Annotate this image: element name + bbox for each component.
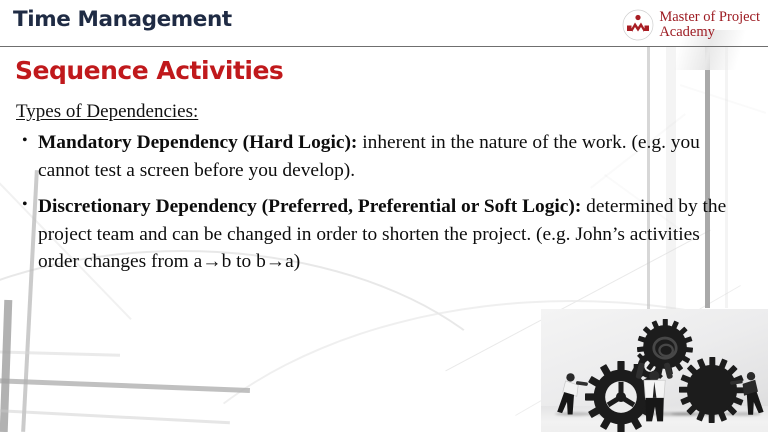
section-subheading: Types of Dependencies: [16, 101, 198, 123]
bullet-list: • Mandatory Dependency (Hard Logic): inh… [16, 129, 728, 285]
list-item-term: Mandatory Dependency (Hard Logic): [38, 132, 357, 153]
presentation-slide: Time Management Master of Project Academ… [0, 0, 768, 432]
person-pushing-left [553, 371, 595, 416]
slide-title: Sequence Activities [15, 56, 283, 85]
list-item: • Discretionary Dependency (Preferred, P… [16, 193, 728, 276]
person-pushing-right [723, 369, 765, 417]
brand-logo-line1: Master of Project [659, 10, 760, 25]
brand-logo-line2: Academy [659, 25, 760, 40]
brand-logo-text: Master of Project Academy [659, 10, 760, 40]
bullet-marker: • [22, 130, 28, 153]
person-lifting-center [633, 361, 677, 423]
header-divider [0, 46, 768, 47]
bullet-marker: • [22, 194, 28, 217]
academy-mark-icon [622, 9, 654, 41]
brand-logo: Master of Project Academy [622, 8, 760, 42]
header-title: Time Management [13, 7, 232, 32]
background-beam [0, 409, 230, 425]
background-beam [0, 378, 250, 393]
businessmen-pushing-gears-photo [541, 309, 768, 432]
background-beam [0, 300, 12, 432]
background-beam [0, 350, 120, 356]
background-beam [680, 84, 766, 114]
slide-header: Time Management Master of Project Academ… [0, 0, 768, 47]
list-item: • Mandatory Dependency (Hard Logic): inh… [16, 129, 728, 184]
list-item-term: Discretionary Dependency (Preferred, Pre… [38, 196, 581, 217]
